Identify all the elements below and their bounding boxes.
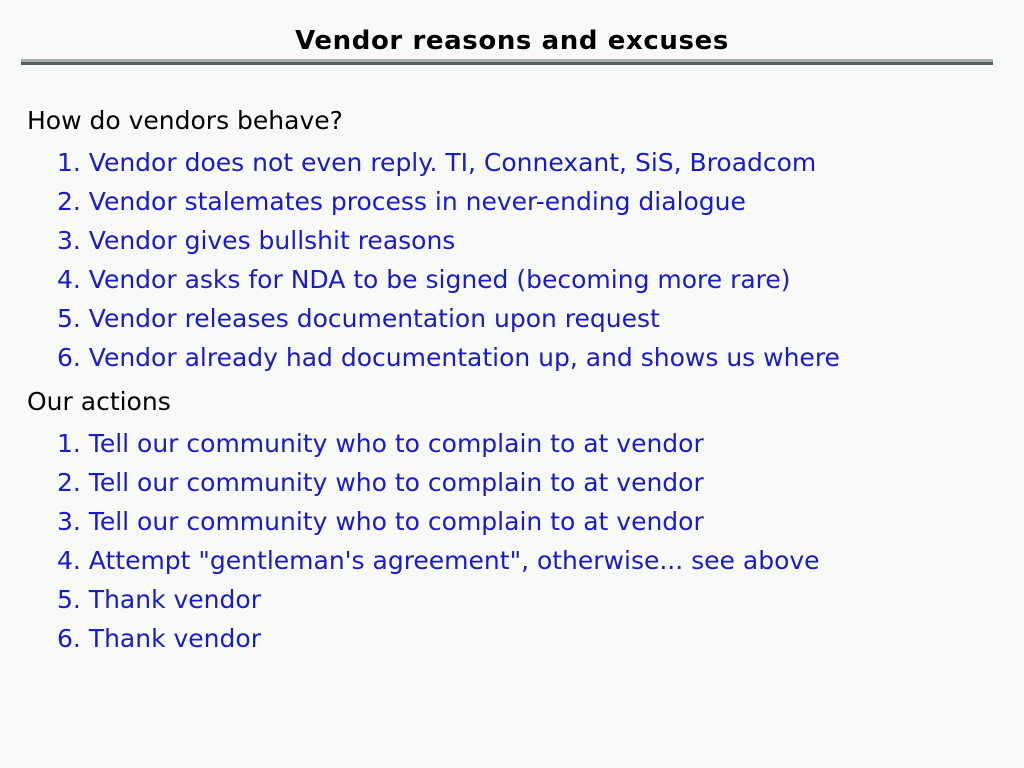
list-item: 5. Vendor releases documentation upon re…: [57, 299, 1024, 338]
section-heading: Our actions: [0, 385, 1024, 419]
title-divider: [21, 59, 993, 65]
section-spacer: [0, 377, 1024, 385]
slide-canvas: Vendor reasons and excuses How do vendor…: [0, 0, 1024, 768]
list-item: 6. Thank vendor: [57, 619, 1024, 658]
section-heading: How do vendors behave?: [0, 104, 1024, 138]
divider-shadow: [21, 62, 993, 65]
list-item: 3. Tell our community who to complain to…: [57, 502, 1024, 541]
page-title: Vendor reasons and excuses: [0, 26, 1024, 56]
list-item: 1. Vendor does not even reply. TI, Conne…: [57, 143, 1024, 182]
our-actions-list: 1. Tell our community who to complain to…: [0, 424, 1024, 658]
list-item: 1. Tell our community who to complain to…: [57, 424, 1024, 463]
vendor-behavior-list: 1. Vendor does not even reply. TI, Conne…: [0, 143, 1024, 377]
list-item: 6. Vendor already had documentation up, …: [57, 338, 1024, 377]
section-how-do-vendors-behave: How do vendors behave? 1. Vendor does no…: [0, 104, 1024, 377]
list-item: 4. Vendor asks for NDA to be signed (bec…: [57, 260, 1024, 299]
list-item: 2. Tell our community who to complain to…: [57, 463, 1024, 502]
list-item: 4. Attempt "gentleman's agreement", othe…: [57, 541, 1024, 580]
list-item: 3. Vendor gives bullshit reasons: [57, 221, 1024, 260]
section-our-actions: Our actions 1. Tell our community who to…: [0, 385, 1024, 658]
list-item: 2. Vendor stalemates process in never-en…: [57, 182, 1024, 221]
list-item: 5. Thank vendor: [57, 580, 1024, 619]
slide-body: How do vendors behave? 1. Vendor does no…: [0, 104, 1024, 658]
